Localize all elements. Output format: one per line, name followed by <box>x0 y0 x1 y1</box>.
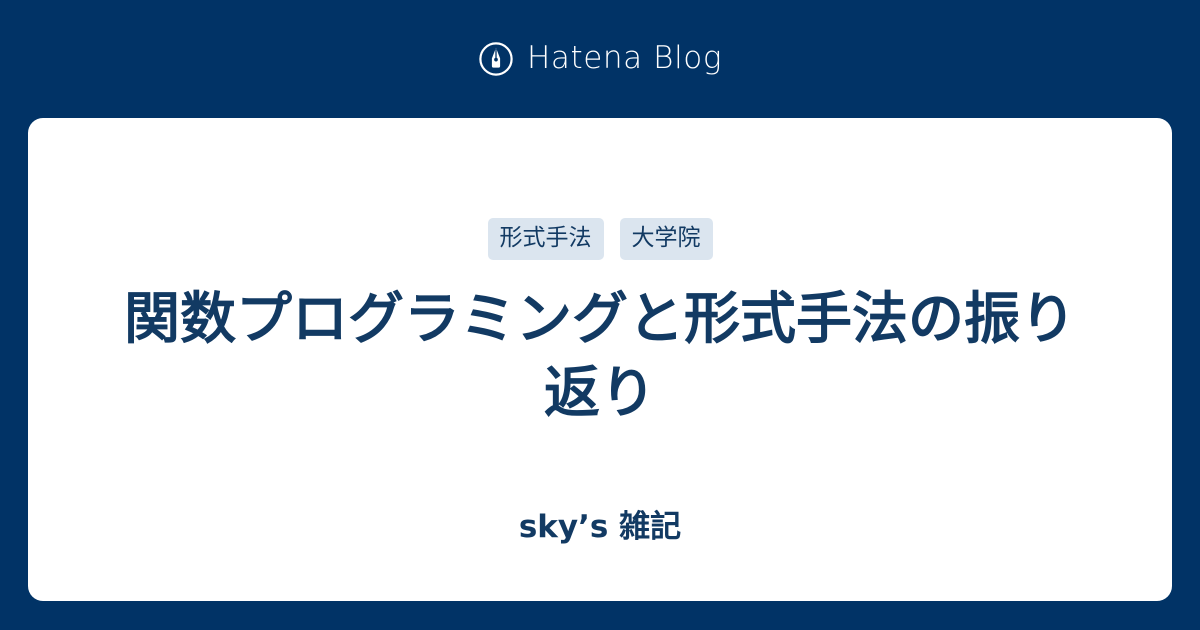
hatena-blog-og-card: Hatena Blog 形式手法 大学院 関数プログラミングと形式手法の振り返り… <box>0 0 1200 630</box>
site-header: Hatena Blog <box>0 0 1200 118</box>
tag-item[interactable]: 大学院 <box>620 218 713 260</box>
brand-name: Hatena Blog <box>527 43 722 74</box>
entry-card: 形式手法 大学院 関数プログラミングと形式手法の振り返り sky’s 雑記 <box>28 118 1172 601</box>
hatena-pen-nib-icon <box>478 41 514 77</box>
blog-name[interactable]: sky’s 雑記 <box>28 512 1172 543</box>
tag-item[interactable]: 形式手法 <box>488 218 604 260</box>
entry-title[interactable]: 関数プログラミングと形式手法の振り返り <box>28 283 1172 431</box>
tag-list: 形式手法 大学院 <box>488 219 713 259</box>
